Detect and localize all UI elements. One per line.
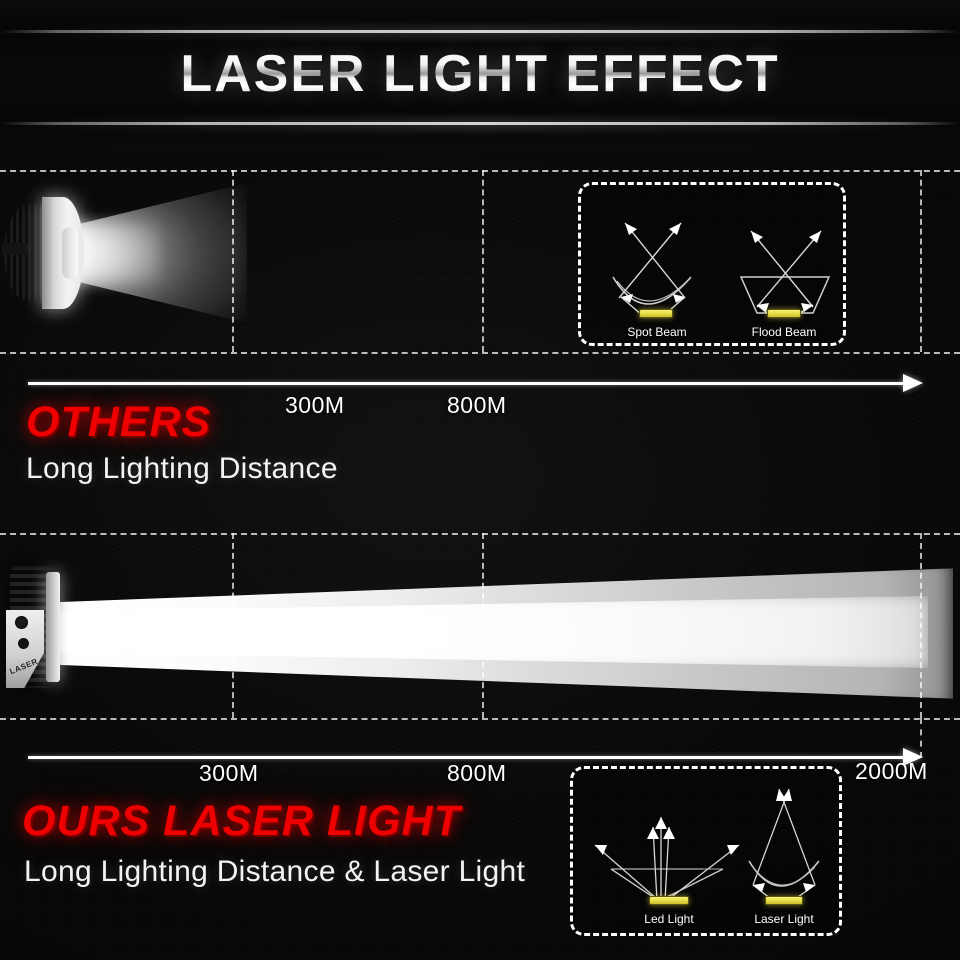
flood-beam-led-chip: [767, 309, 801, 318]
led-light-chip: [649, 896, 689, 905]
header-rule-bottom: [0, 122, 960, 125]
ours-tick-800m: 800M: [447, 760, 507, 787]
arrowhead: [751, 231, 763, 243]
flood-beam-label: Flood Beam: [736, 325, 832, 339]
grid-vline-b1: [232, 533, 234, 718]
arrowhead: [669, 223, 681, 235]
round-headlight-icon: [4, 197, 84, 309]
led-light-label: Led Light: [621, 912, 717, 926]
barlight-mount-hole-secondary: [18, 638, 29, 649]
ours-tick-2000m: 2000M: [855, 758, 928, 785]
ours-axis-line: [28, 756, 908, 759]
header-banner: LASER LIGHT EFFECT: [0, 0, 960, 150]
spot-beam-label: Spot Beam: [609, 325, 705, 339]
arrowhead: [625, 223, 637, 235]
others-subheading: Long Lighting Distance: [26, 452, 338, 486]
others-tick-800m: 800M: [447, 392, 507, 419]
barlight-mount-hole: [15, 616, 28, 629]
grid-hline-4: [0, 718, 960, 720]
grid-vline-b2: [482, 533, 484, 718]
arrowhead: [753, 883, 765, 892]
ours-subheading: Long Lighting Distance & Laser Light: [24, 855, 525, 889]
barlight-lens: [46, 572, 60, 682]
arrowhead: [803, 883, 815, 892]
others-heading: OTHERS: [26, 398, 211, 447]
ours-heading: OURS LASER LIGHT: [22, 797, 461, 846]
others-axis-line: [28, 382, 908, 385]
grid-vline-a2: [482, 170, 484, 352]
arrowhead: [655, 817, 667, 829]
beam-type-inset-top: Spot Beam Flood Beam: [578, 182, 846, 346]
laser-light-chip: [765, 896, 803, 905]
grid-vline-a1: [232, 170, 234, 352]
grid-hline-3: [0, 533, 960, 535]
page-title: LASER LIGHT EFFECT: [0, 44, 960, 104]
others-tick-300m: 300M: [285, 392, 345, 419]
laser-light-label: Laser Light: [736, 912, 832, 926]
headlight-lens-highlight: [62, 227, 78, 279]
headlight-bracket: [2, 243, 28, 255]
arrowhead: [809, 231, 821, 243]
spot-beam-led-chip: [639, 309, 673, 318]
grid-vline-b3: [920, 533, 922, 718]
laser-bar-light-icon: LASER: [6, 566, 68, 698]
others-axis-arrow: [903, 374, 923, 392]
ours-tick-300m: 300M: [199, 760, 259, 787]
grid-hline-2: [0, 352, 960, 354]
grid-hline-1: [0, 170, 960, 172]
beam-type-inset-bottom: Led Light Laser Light: [570, 766, 842, 936]
header-rule-top: [0, 30, 960, 33]
grid-vline-a3: [920, 170, 922, 352]
